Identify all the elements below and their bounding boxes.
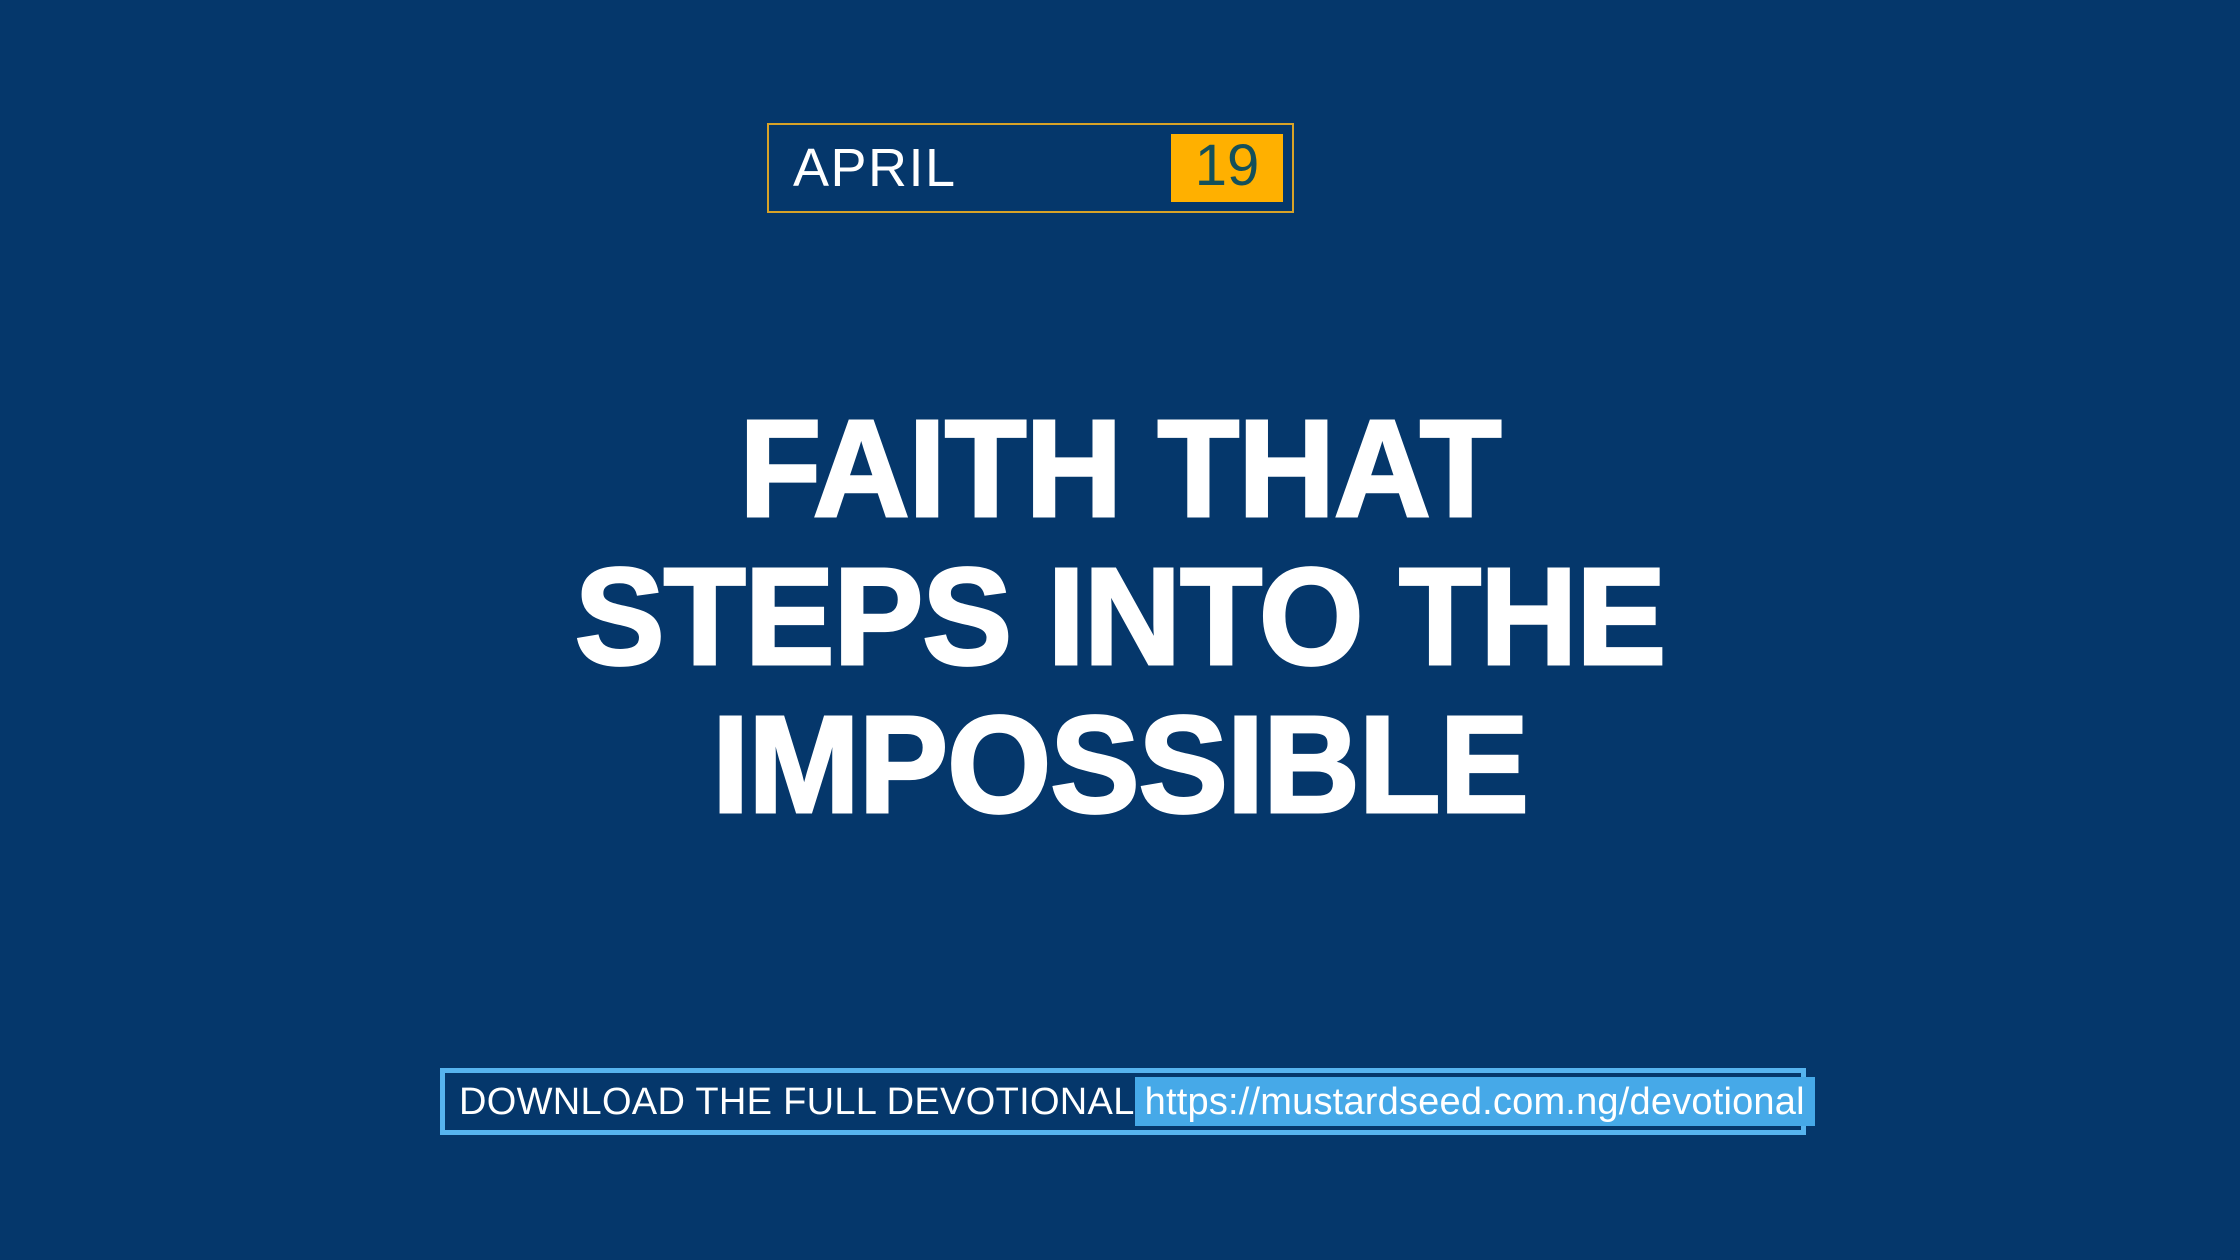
date-badge: APRIL 19 (767, 123, 1294, 213)
devotional-url-text: https://mustardseed.com.ng/devotional (1145, 1083, 1805, 1121)
title-line-2: STEPS INTO THE (28, 543, 2212, 691)
download-cta-bar[interactable]: DOWNLOAD THE FULL DEVOTIONAL https://mus… (440, 1068, 1806, 1135)
devotional-card: APRIL 19 FAITH THAT STEPS INTO THE IMPOS… (0, 0, 2240, 1260)
title-line-1: FAITH THAT (34, 395, 2207, 543)
download-cta-label: DOWNLOAD THE FULL DEVOTIONAL (459, 1083, 1135, 1121)
page-title: FAITH THAT STEPS INTO THE IMPOSSIBLE (0, 395, 2240, 839)
devotional-url-chip[interactable]: https://mustardseed.com.ng/devotional (1135, 1077, 1815, 1126)
date-month-label: APRIL (769, 125, 957, 211)
date-day-label: 19 (1195, 137, 1260, 195)
title-line-3: IMPOSSIBLE (34, 691, 2207, 839)
date-day-chip: 19 (1171, 134, 1283, 202)
